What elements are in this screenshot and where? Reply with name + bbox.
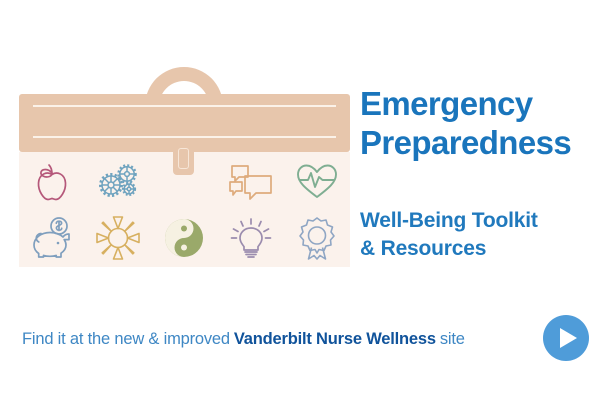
headline-line-2: Preparedness [360, 123, 612, 162]
poster-canvas: Emergency Preparedness Well-Being Toolki… [0, 0, 612, 408]
toolbox-lid-line-top [33, 105, 336, 107]
toolbox-latch-inner [178, 148, 189, 169]
call-to-action: Find it at the new & improved Vanderbilt… [22, 325, 542, 353]
play-button[interactable] [543, 315, 589, 361]
subhead-line-2: & Resources [360, 235, 612, 263]
lightbulb-icon [218, 210, 284, 268]
toolbox-latch-icon [173, 142, 194, 175]
sun-icon [85, 210, 151, 268]
apple-icon [19, 152, 85, 210]
page-subtitle: Well-Being Toolkit & Resources [360, 207, 612, 263]
page-title: Emergency Preparedness [360, 84, 612, 162]
cta-brand: Vanderbilt Nurse Wellness [234, 330, 436, 349]
yin-yang-icon [151, 210, 217, 268]
subhead-line-1: Well-Being Toolkit [360, 209, 538, 232]
headline-line-1: Emergency [360, 85, 533, 122]
cta-suffix: site [440, 330, 465, 349]
heart-pulse-icon [284, 152, 350, 210]
toolbox-illustration [19, 62, 350, 267]
award-ribbon-icon [284, 210, 350, 268]
toolbox-lid-line-bottom [33, 136, 336, 138]
piggy-bank-icon [19, 210, 85, 268]
play-triangle-icon [560, 328, 577, 348]
cta-prefix: Find it at the new & improved [22, 330, 230, 349]
gears-icon [85, 152, 151, 210]
speech-bubbles-icon [218, 152, 284, 210]
